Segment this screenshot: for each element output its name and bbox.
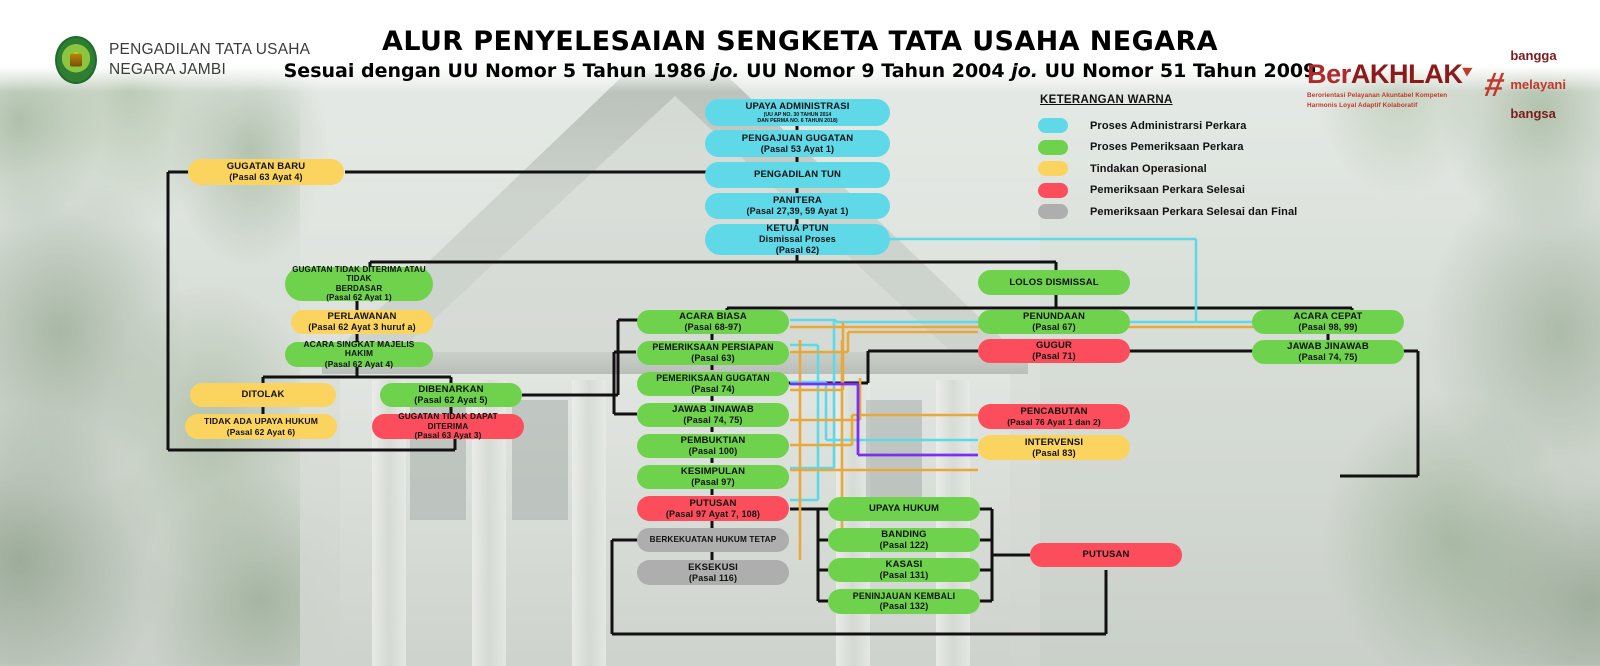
berakhlak-wordmark: BerAKHLAK <box>1307 59 1473 90</box>
node-label: GUGUR <box>1036 340 1072 351</box>
node-pemeriksaan-persiapan[interactable]: PEMERIKSAAN PERSIAPAN (Pasal 63) <box>637 341 789 365</box>
node-label: PEMERIKSAAN GUGATAN <box>656 373 769 383</box>
node-sublabel: (Pasal 132) <box>880 601 929 612</box>
node-label: DITOLAK <box>241 389 284 400</box>
node-jawab-jinawab-center[interactable]: JAWAB JINAWAB (Pasal 74, 75) <box>637 403 789 427</box>
node-pengadilan-tun[interactable]: PENGADILAN TUN <box>705 162 890 188</box>
node-acara-cepat[interactable]: ACARA CEPAT (Pasal 98, 99) <box>1252 310 1404 334</box>
node-label: GUGATAN TIDAK DITERIMA ATAU TIDAK BERDAS… <box>291 265 427 293</box>
node-label: PENINJAUAN KEMBALI <box>853 591 955 601</box>
node-tidak-ada-upaya-hukum[interactable]: TIDAK ADA UPAYA HUKUM (Pasal 62 Ayat 6) <box>185 414 337 439</box>
legend-item-operasional: Tindakan Operasional <box>1038 158 1297 180</box>
subtitle-part-1: Sesuai dengan UU Nomor 5 Tahun 1986 <box>284 60 713 82</box>
node-label: KETUA PTUN <box>766 223 828 234</box>
node-sublabel: (Pasal 97 Ayat 7, 108) <box>666 509 760 520</box>
node-label: ACARA SINGKAT MAJELIS HAKIM <box>291 340 427 360</box>
node-gugatan-baru[interactable]: GUGATAN BARU (Pasal 63 Ayat 4) <box>188 159 344 185</box>
node-ditolak[interactable]: DITOLAK <box>190 383 336 407</box>
node-sublabel: (Pasal 63 Ayat 3) <box>414 431 481 441</box>
legend-label-operasional: Tindakan Operasional <box>1090 163 1207 175</box>
node-acara-singkat-majelis-hakim[interactable]: ACARA SINGKAT MAJELIS HAKIM (Pasal 62 Ay… <box>285 342 433 367</box>
legend-item-selesai: Pemeriksaan Perkara Selesai <box>1038 180 1297 202</box>
node-label: PEMERIKSAAN PERSIAPAN <box>652 342 773 352</box>
node-sublabel: (Pasal 63 Ayat 4) <box>229 172 302 183</box>
node-label: JAWAB JINAWAB <box>1287 341 1369 352</box>
legend: KETERANGAN WARNA Proses Administrarsi Pe… <box>1038 94 1297 223</box>
hash-icon: # <box>1482 68 1507 102</box>
legend-swatch-gray <box>1038 204 1068 219</box>
node-sublabel: (Pasal 83) <box>1032 448 1076 459</box>
node-sublabel: Dismissal Proses (Pasal 62) <box>759 234 836 256</box>
legend-item-final: Pemeriksaan Perkara Selesai dan Final <box>1038 201 1297 223</box>
node-sublabel: (Pasal 62 Ayat 1) <box>326 293 392 303</box>
node-label: PEMBUKTIAN <box>681 435 746 446</box>
node-sublabel: (Pasal 62 Ayat 6) <box>227 427 296 437</box>
legend-swatch-cyan <box>1038 118 1068 133</box>
node-sublabel: (Pasal 67) <box>1032 322 1076 333</box>
node-label: GUGATAN BARU <box>227 161 306 172</box>
node-label: KESIMPULAN <box>681 466 745 477</box>
node-intervensi[interactable]: INTERVENSI (Pasal 83) <box>978 435 1130 460</box>
node-sublabel: (Pasal 98, 99) <box>1298 322 1357 333</box>
node-label: PENUNDAAN <box>1023 311 1085 322</box>
legend-swatch-yellow <box>1038 161 1068 176</box>
legend-label-administrasi: Proses Administrarsi Perkara <box>1090 120 1246 132</box>
subtitle-part-3: UU Nomor 51 Tahun 2009 <box>1038 60 1316 82</box>
node-sublabel: (Pasal 71) <box>1032 351 1076 362</box>
node-panitera[interactable]: PANITERA (Pasal 27,39, 59 Ayat 1) <box>705 193 890 219</box>
node-label: PUTUSAN <box>1083 549 1130 560</box>
node-label: PENGADILAN TUN <box>754 169 841 180</box>
node-label: BERKEKUATAN HUKUM TETAP <box>650 535 777 545</box>
node-sublabel: (Pasal 62 Ayat 5) <box>414 395 487 406</box>
node-label: PANITERA <box>773 195 822 206</box>
node-kesimpulan[interactable]: KESIMPULAN (Pasal 97) <box>637 465 789 489</box>
legend-item-pemeriksaan: Proses Pemeriksaan Perkara <box>1038 137 1297 159</box>
legend-label-selesai: Pemeriksaan Perkara Selesai <box>1090 184 1245 196</box>
node-jawab-jinawab-right[interactable]: JAWAB JINAWAB (Pasal 74, 75) <box>1252 340 1404 364</box>
node-sublabel: (Pasal 62 Ayat 3 huruf a) <box>308 322 416 333</box>
node-label: UPAYA HUKUM <box>869 503 939 514</box>
node-label: UPAYA ADMINISTRASI <box>745 101 849 112</box>
node-gugur[interactable]: GUGUR (Pasal 71) <box>978 339 1130 363</box>
berakhlak-logo-block: BerAKHLAK Berorientasi Pelayanan Akuntab… <box>1307 34 1566 136</box>
node-gugatan-tidak-diterima[interactable]: GUGATAN TIDAK DITERIMA ATAU TIDAK BERDAS… <box>285 267 433 301</box>
node-perlawanan[interactable]: PERLAWANAN (Pasal 62 Ayat 3 huruf a) <box>291 310 433 334</box>
swoosh-arrow-icon <box>1463 64 1476 77</box>
node-pencabutan[interactable]: PENCABUTAN (Pasal 76 Ayat 1 dan 2) <box>978 404 1130 429</box>
node-eksekusi[interactable]: EKSEKUSI (Pasal 116) <box>637 560 789 585</box>
node-label: PENGAJUAN GUGATAN <box>742 133 853 144</box>
node-penundaan[interactable]: PENUNDAAN (Pasal 67) <box>978 310 1130 334</box>
flowchart-canvas: PENGADILAN TATA USAHA NEGARA JAMBI ALUR … <box>0 0 1600 666</box>
subtitle-part-2: UU Nomor 9 Tahun 2004 <box>739 60 1011 82</box>
node-sublabel: (Pasal 53 Ayat 1) <box>761 144 834 155</box>
node-label: PERLAWANAN <box>327 311 396 322</box>
node-peninjauan-kembali[interactable]: PENINJAUAN KEMBALI (Pasal 132) <box>828 589 980 614</box>
subtitle-jo-2: jo. <box>1011 60 1038 82</box>
node-sublabel: (Pasal 116) <box>689 573 737 584</box>
node-label: PUTUSAN <box>690 498 737 509</box>
node-pembuktian[interactable]: PEMBUKTIAN (Pasal 100) <box>637 434 789 458</box>
node-label: EKSEKUSI <box>688 562 738 573</box>
slogan-line-1: bangga <box>1510 49 1566 64</box>
node-berkekuatan-hukum-tetap[interactable]: BERKEKUATAN HUKUM TETAP <box>637 528 789 552</box>
node-sublabel: (Pasal 74, 75) <box>683 415 742 426</box>
legend-item-administrasi: Proses Administrarsi Perkara <box>1038 115 1297 137</box>
node-pemeriksaan-gugatan[interactable]: PEMERIKSAAN GUGATAN (Pasal 74) <box>637 372 789 396</box>
node-putusan-right[interactable]: PUTUSAN <box>1030 543 1182 567</box>
slogan-line-3: bangsa <box>1510 107 1566 122</box>
node-label: PENCABUTAN <box>1020 406 1087 417</box>
node-label: LOLOS DISMISSAL <box>1009 277 1098 288</box>
berakhlak-akhlak: AKHLAK <box>1351 59 1463 89</box>
node-pengajuan-gugatan[interactable]: PENGAJUAN GUGATAN (Pasal 53 Ayat 1) <box>705 130 890 157</box>
node-label: ACARA CEPAT <box>1293 311 1362 322</box>
node-label: GUGATAN TIDAK DAPAT DITERIMA <box>378 412 518 431</box>
subtitle-jo-1: jo. <box>713 60 740 82</box>
node-dibenarkan[interactable]: DIBENARKAN (Pasal 62 Ayat 5) <box>380 383 522 407</box>
berakhlak-ber: Ber <box>1307 59 1351 89</box>
node-sublabel: (Pasal 27,39, 59 Ayat 1) <box>747 206 849 217</box>
legend-label-final: Pemeriksaan Perkara Selesai dan Final <box>1090 206 1297 218</box>
node-label: KASASI <box>886 559 923 570</box>
node-banding[interactable]: BANDING (Pasal 122) <box>828 528 980 552</box>
node-putusan-center[interactable]: PUTUSAN (Pasal 97 Ayat 7, 108) <box>637 496 789 521</box>
node-label: TIDAK ADA UPAYA HUKUM <box>204 416 318 426</box>
node-acara-biasa[interactable]: ACARA BIASA (Pasal 68-97) <box>637 310 789 334</box>
slogan-line-2: melayani <box>1510 78 1566 93</box>
node-sublabel: (Pasal 62 Ayat 4) <box>325 359 394 369</box>
node-sublabel: (Pasal 74, 75) <box>1298 352 1357 363</box>
node-label: ACARA BIASA <box>679 311 747 322</box>
node-lolos-dismissal[interactable]: LOLOS DISMISSAL <box>978 270 1130 295</box>
node-kasasi[interactable]: KASASI (Pasal 131) <box>828 558 980 582</box>
node-label: DIBENARKAN <box>418 384 483 395</box>
bangga-melayani-bangsa-slogan: bangga melayani bangsa <box>1510 34 1566 136</box>
node-sublabel: (Pasal 76 Ayat 1 dan 2) <box>1007 417 1101 427</box>
node-sublabel: (Pasal 131) <box>880 570 929 581</box>
node-label: INTERVENSI <box>1025 437 1083 448</box>
legend-label-pemeriksaan: Proses Pemeriksaan Perkara <box>1090 141 1244 153</box>
legend-swatch-red <box>1038 183 1068 198</box>
node-sublabel: (Pasal 97) <box>691 477 735 488</box>
node-upaya-hukum[interactable]: UPAYA HUKUM <box>828 497 980 521</box>
node-sublabel: (Pasal 122) <box>880 540 929 551</box>
node-sublabel: (UU AP NO. 30 TAHUN 2014 DAN PERMA NO. 6… <box>757 112 837 125</box>
node-sublabel: (Pasal 74) <box>691 384 735 395</box>
legend-swatch-green <box>1038 140 1068 155</box>
node-sublabel: (Pasal 63) <box>691 353 735 364</box>
node-label: BANDING <box>881 529 926 540</box>
node-gugatan-tidak-dapat-diterima[interactable]: GUGATAN TIDAK DAPAT DITERIMA (Pasal 63 A… <box>372 414 524 439</box>
node-upaya-administrasi[interactable]: UPAYA ADMINISTRASI (UU AP NO. 30 TAHUN 2… <box>705 99 890 126</box>
node-label: JAWAB JINAWAB <box>672 404 754 415</box>
node-sublabel: (Pasal 68-97) <box>685 322 742 333</box>
node-sublabel: (Pasal 100) <box>689 446 738 457</box>
berakhlak-tagline: Berorientasi Pelayanan Akuntabel Kompete… <box>1307 91 1473 110</box>
legend-title: KETERANGAN WARNA <box>1038 94 1297 106</box>
node-ketua-ptun[interactable]: KETUA PTUN Dismissal Proses (Pasal 62) <box>705 224 890 255</box>
